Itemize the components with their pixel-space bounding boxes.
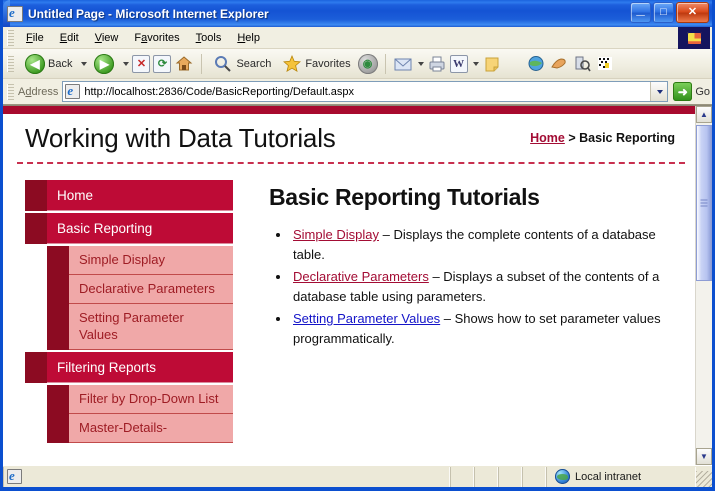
menu-item-edit[interactable]: Edit (52, 30, 87, 46)
sidebar-item-setting-parameter-values[interactable]: Setting Parameter Values (69, 304, 233, 350)
menu-item-tools[interactable]: Tools (188, 30, 230, 46)
minimize-icon: _ (631, 3, 650, 22)
breadcrumb-link-home[interactable]: Home (530, 131, 565, 145)
local-intranet-globe-icon (555, 469, 570, 484)
link-declarative-parameters[interactable]: Declarative Parameters (293, 269, 429, 284)
stop-icon[interactable]: ✕ (132, 55, 150, 73)
page-scrollbar[interactable]: ▲ ▼ (695, 106, 712, 465)
chevron-up-icon: ▲ (697, 107, 711, 122)
window-controls: _ □ ✕ (630, 2, 709, 23)
windows-flag-icon (678, 27, 710, 49)
back-dropdown-icon[interactable] (81, 62, 87, 66)
back-label: Back (48, 58, 72, 70)
address-url-text: http://localhost:2836/Code/BasicReportin… (84, 86, 354, 98)
security-zone-cell[interactable]: Local intranet (546, 467, 696, 487)
scrollbar-track[interactable] (696, 123, 712, 448)
sidebar-subgroup-basic-reporting: Simple Display Declarative Parameters Se… (25, 246, 233, 350)
forward-button[interactable]: ▶ (90, 52, 118, 76)
sidebar-nav: Home Basic Reporting Simple Display Decl… (25, 180, 233, 457)
print-icon[interactable] (427, 54, 447, 73)
title-bar: Untitled Page - Microsoft Internet Explo… (3, 0, 712, 27)
encarta-icon[interactable] (595, 54, 615, 73)
status-cell-4 (522, 467, 546, 487)
status-cell-2 (474, 467, 498, 487)
status-cell-1 (450, 467, 474, 487)
list-item: Declarative Parameters – Displays a subs… (291, 267, 669, 307)
menu-item-help[interactable]: Help (229, 30, 268, 46)
address-input[interactable]: http://localhost:2836/Code/BasicReportin… (62, 81, 668, 102)
toolbar-separator (201, 54, 202, 74)
back-button[interactable]: ◀ Back (21, 52, 76, 76)
toolbar: ◀ Back ▶ ✕ ⟳ Search (3, 49, 712, 79)
edit-word-icon[interactable]: W (450, 55, 468, 73)
sidebar-item-filtering-reports[interactable]: Filtering Reports (25, 352, 233, 383)
chevron-down-icon (657, 90, 663, 94)
link-setting-parameter-values[interactable]: Setting Parameter Values (293, 311, 440, 326)
favorites-button[interactable]: Favorites (278, 52, 354, 75)
notes-icon[interactable] (482, 54, 502, 73)
sidebar-item-simple-display[interactable]: Simple Display (69, 246, 233, 275)
forward-dropdown-icon[interactable] (123, 62, 129, 66)
sidebar-item-label: Filtering Reports (47, 352, 233, 383)
breadcrumb-separator: > (568, 131, 575, 145)
sidebar-item-basic-reporting[interactable]: Basic Reporting (25, 213, 233, 244)
search-icon (213, 54, 233, 73)
page-header: Working with Data Tutorials Home > Basic… (3, 114, 695, 162)
toolbar-separator-2 (385, 54, 386, 74)
nav-sub-bar (47, 385, 69, 443)
mail-dropdown-icon[interactable] (418, 62, 424, 66)
list-item: Setting Parameter Values – Shows how to … (291, 309, 669, 349)
sidebar-item-home[interactable]: Home (25, 180, 233, 211)
messenger-icon[interactable] (526, 54, 546, 73)
go-arrow-icon: ➜ (673, 82, 692, 101)
go-button[interactable]: ➜ Go (673, 82, 710, 101)
nav-accent-block (25, 213, 47, 244)
home-icon[interactable] (174, 54, 194, 73)
window-title: Untitled Page - Microsoft Internet Explo… (28, 7, 269, 21)
list-item: Simple Display – Displays the complete c… (291, 225, 669, 265)
status-left-cell (3, 467, 450, 487)
favorites-label: Favorites (305, 58, 350, 70)
address-label: Address (18, 86, 58, 98)
link-simple-display[interactable]: Simple Display (293, 227, 379, 242)
main-content: Basic Reporting Tutorials Simple Display… (233, 180, 695, 457)
toolbar-grip-handle[interactable] (7, 56, 14, 72)
nav-sub-bar (47, 246, 69, 350)
go-label: Go (695, 86, 710, 98)
sidebar-item-filter-by-drop-down-list[interactable]: Filter by Drop-Down List (69, 385, 233, 414)
content-heading: Basic Reporting Tutorials (269, 184, 669, 211)
menu-item-view[interactable]: View (87, 30, 127, 46)
breadcrumb-current: Basic Reporting (579, 131, 675, 145)
menu-item-favorites[interactable]: Favorites (126, 30, 187, 46)
menu-grip-handle[interactable] (7, 30, 14, 46)
maximize-icon: □ (654, 3, 673, 22)
sidebar-item-master-details[interactable]: Master-Details- (69, 414, 233, 443)
web-page: Working with Data Tutorials Home > Basic… (3, 106, 695, 465)
status-cell-3 (498, 467, 522, 487)
browser-window: Untitled Page - Microsoft Internet Explo… (0, 0, 715, 491)
page-body: Home Basic Reporting Simple Display Decl… (3, 164, 695, 457)
scroll-down-button[interactable]: ▼ (696, 448, 712, 465)
back-icon: ◀ (25, 54, 45, 74)
address-bar: Address http://localhost:2836/Code/Basic… (3, 79, 712, 105)
ie-document-icon (7, 469, 22, 484)
security-zone-label: Local intranet (575, 471, 641, 483)
research-icon[interactable] (549, 54, 569, 73)
mail-icon[interactable] (393, 54, 413, 73)
refresh-icon[interactable]: ⟳ (153, 55, 171, 73)
media-icon[interactable]: ◉ (358, 54, 378, 74)
edit-dropdown-icon[interactable] (473, 62, 479, 66)
minimize-button[interactable]: _ (630, 2, 651, 23)
forward-icon: ▶ (94, 54, 114, 74)
ie-document-icon (7, 6, 23, 22)
maximize-button[interactable]: □ (653, 2, 674, 23)
close-button[interactable]: ✕ (676, 2, 709, 23)
nav-accent-block (25, 180, 47, 211)
scroll-up-button[interactable]: ▲ (696, 106, 712, 123)
breadcrumb: Home > Basic Reporting (530, 131, 681, 145)
nav-accent-block (25, 352, 47, 383)
tutorial-list: Simple Display – Displays the complete c… (291, 225, 669, 349)
menu-bar: File Edit View Favorites Tools Help (3, 27, 712, 49)
address-grip-handle[interactable] (7, 84, 14, 100)
close-icon: ✕ (677, 3, 708, 22)
scrollbar-thumb[interactable] (696, 125, 712, 281)
favorites-icon (282, 54, 302, 73)
menu-item-file[interactable]: File (18, 30, 52, 46)
resize-grip[interactable] (696, 471, 712, 487)
page-title: Working with Data Tutorials (25, 123, 336, 154)
chevron-down-icon: ▼ (697, 449, 711, 464)
search-button[interactable]: Search (209, 52, 275, 75)
sidebar-item-label: Home (47, 180, 233, 211)
address-dropdown-button[interactable] (650, 82, 667, 101)
status-bar: Local intranet (3, 465, 712, 487)
toolbar-separator-3 (509, 54, 519, 74)
sidebar-item-label: Basic Reporting (47, 213, 233, 244)
sidebar-item-declarative-parameters[interactable]: Declarative Parameters (69, 275, 233, 304)
browser-viewport: Working with Data Tutorials Home > Basic… (3, 105, 712, 465)
discuss-icon[interactable] (572, 54, 592, 73)
page-icon (65, 84, 80, 99)
search-label: Search (236, 58, 271, 70)
sidebar-subgroup-filtering-reports: Filter by Drop-Down List Master-Details- (25, 385, 233, 443)
page-top-accent-bar (3, 106, 695, 114)
